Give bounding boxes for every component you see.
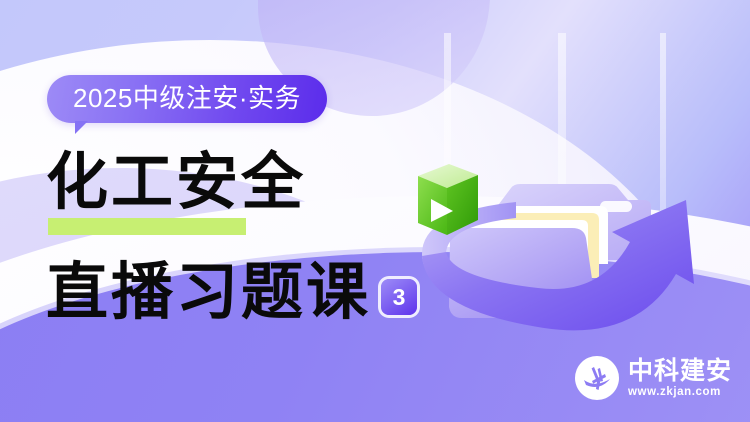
course-poster-banner: 2025中级注安·实务 化工安全 直播习题课 3 [0,0,750,422]
brand-url: www.zkjan.com [628,386,732,398]
poster-headline: 化工安全 直播习题课 3 [46,152,306,214]
brand-logo: 中科建安 www.zkjan.com [575,356,732,400]
headline-highlight-bar [48,218,246,235]
course-category-badge-label: 2025中级注安·实务 [47,75,327,123]
brand-logo-text: 中科建安 www.zkjan.com [628,358,732,398]
course-category-badge: 2025中级注安·实务 [47,75,327,123]
zkjan-logo-icon [575,356,619,400]
headline-line-2-row: 直播习题课 3 [46,262,417,324]
play-cube [418,164,478,235]
folder-illustration [404,92,734,362]
badge-tail-icon [75,121,88,134]
brand-name: 中科建安 [628,358,732,384]
headline-line-2: 直播习题课 [46,262,371,324]
headline-line-1: 化工安全 [46,152,306,214]
